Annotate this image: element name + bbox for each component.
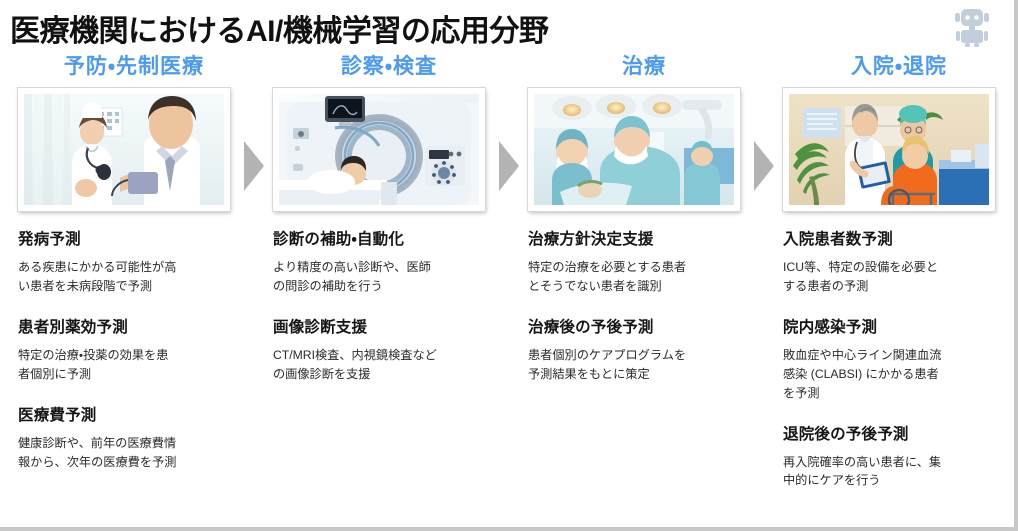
item-title: 発病予測 [18,227,250,249]
stage-image-admission-discharge [783,88,995,211]
stage-image-prevention [18,88,230,211]
item-body: ICU等、特定の設備を必要と する患者の予測 [783,258,1015,296]
stage-image-treatment [528,88,740,211]
item-body: 特定の治療を必要とする患者 とそうでない患者を識別 [528,258,760,296]
item-body: 健康診断や、前年の医療費情 報から、次年の医療費を予測 [18,434,250,472]
column-header: 診察・検査 [273,52,505,82]
item-title: 治療方針決定支援 [528,227,760,249]
column-header: 治療 [528,52,760,82]
item-title: 患者別薬効予測 [18,315,250,337]
robot-icon [950,6,994,48]
slide-canvas: 医療機関におけるAI/機械学習の応用分野 予防・先制医療 [0,0,1018,531]
item-body: CT/MRI検査、内視鏡検査など の画像診断を支援 [273,346,505,384]
arrow-stage-3-to-4 [753,140,775,192]
stage-item-list: 治療方針決定支援 特定の治療を必要とする患者 とそうでない患者を識別 治療後の予… [528,227,760,384]
arrow-stage-2-to-3 [498,140,520,192]
item-title: 診断の補助・自動化 [273,227,505,249]
column-header: 入院・退院 [783,52,1015,82]
stage-image-examination [273,88,485,211]
item-body: 再入院確率の高い患者に、集 中的にケアを行う [783,453,1015,491]
stage-item-list: 診断の補助・自動化 より精度の高い診断や、医師 の問診の補助を行う 画像診断支援… [273,227,505,384]
item-title: 医療費予測 [18,403,250,425]
stage-column-admission-discharge: 入院・退院 [783,52,1015,490]
item-title: 院内感染予測 [783,315,1015,337]
stage-column-treatment: 治療 [528,52,760,384]
item-body: 特定の治療・投薬の効果を患 者個別に予測 [18,346,250,384]
item-body: 敗血症や中心ライン関連血流 感染 (CLABSI) にかかる患者 を予測 [783,346,1015,403]
item-title: 治療後の予後予測 [528,315,760,337]
column-header: 予防・先制医療 [18,52,250,82]
arrow-stage-1-to-2 [243,140,265,192]
item-title: 入院患者数予測 [783,227,1015,249]
item-body: より精度の高い診断や、医師 の問診の補助を行う [273,258,505,296]
item-body: 患者個別のケアプログラムを 予測結果をもとに策定 [528,346,760,384]
stage-item-list: 入院患者数予測 ICU等、特定の設備を必要と する患者の予測 院内感染予測 敗血… [783,227,1015,490]
item-title: 退院後の予後予測 [783,422,1015,444]
item-title: 画像診断支援 [273,315,505,337]
page-title: 医療機関におけるAI/機械学習の応用分野 [10,6,548,50]
stage-column-prevention: 予防・先制医療 [18,52,250,471]
stage-column-examination: 診察・検査 [273,52,505,384]
item-body: ある疾患にかかる可能性が高 い患者を未病段階で予測 [18,258,250,296]
stage-item-list: 発病予測 ある疾患にかかる可能性が高 い患者を未病段階で予測 患者別薬効予測 特… [18,227,250,471]
